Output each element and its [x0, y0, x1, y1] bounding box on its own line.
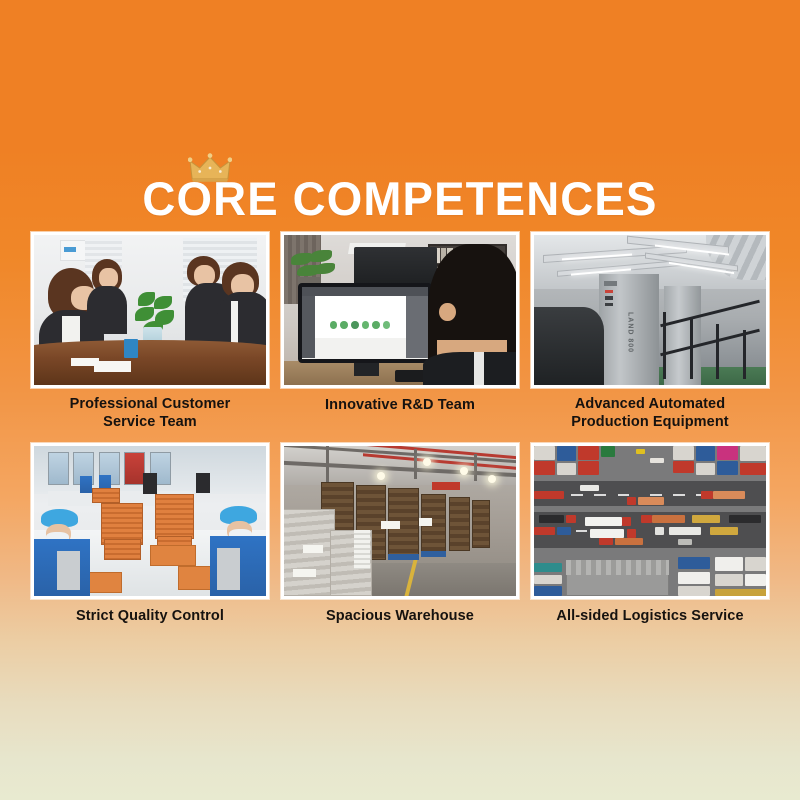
photo-production-equipment: LAND 800	[534, 235, 766, 385]
page-header: CORE COMPETENCES	[0, 152, 800, 230]
photo-frame	[281, 232, 519, 388]
caption-line-2: Service Team	[103, 414, 197, 430]
photo-logistics-service	[534, 446, 766, 596]
caption-line-2: Production Equipment	[571, 414, 728, 430]
card-caption: Professional Customer Service Team	[25, 395, 275, 431]
card-strict-quality-control[interactable]: Strict Quality Control	[25, 443, 275, 625]
card-caption: Strict Quality Control	[25, 607, 275, 625]
card-spacious-warehouse[interactable]: Spacious Warehouse	[275, 443, 525, 625]
photo-frame: LAND 800	[531, 232, 769, 388]
caption-line-1: Professional Customer	[70, 396, 231, 412]
photo-frame	[31, 232, 269, 388]
card-all-sided-logistics-service[interactable]: All-sided Logistics Service	[525, 443, 775, 625]
card-caption: Spacious Warehouse	[275, 607, 525, 625]
card-caption: All-sided Logistics Service	[525, 607, 775, 625]
card-advanced-automated-production-equipment[interactable]: LAND 800	[525, 232, 775, 431]
caption-line-1: Spacious Warehouse	[326, 608, 474, 624]
grid-row: Professional Customer Service Team	[25, 232, 775, 431]
card-innovative-rd-team[interactable]: Innovative R&D Team	[275, 232, 525, 431]
grid-row: Strict Quality Control	[25, 443, 775, 625]
caption-line-1: Innovative R&D Team	[325, 397, 475, 413]
photo-frame	[531, 443, 769, 599]
caption-line-1: Strict Quality Control	[76, 608, 224, 624]
photo-warehouse	[284, 446, 516, 596]
photo-rd-team	[284, 235, 516, 385]
competences-grid: Professional Customer Service Team	[25, 232, 775, 625]
caption-line-1: All-sided Logistics Service	[556, 608, 743, 624]
card-caption: Advanced Automated Production Equipment	[525, 395, 775, 431]
card-caption: Innovative R&D Team	[275, 396, 525, 414]
photo-frame	[281, 443, 519, 599]
page-title: CORE COMPETENCES	[12, 152, 788, 230]
caption-line-1: Advanced Automated	[575, 396, 725, 412]
photo-customer-service-team	[34, 235, 266, 385]
photo-quality-control	[34, 446, 266, 596]
photo-frame	[31, 443, 269, 599]
card-professional-customer-service-team[interactable]: Professional Customer Service Team	[25, 232, 275, 431]
